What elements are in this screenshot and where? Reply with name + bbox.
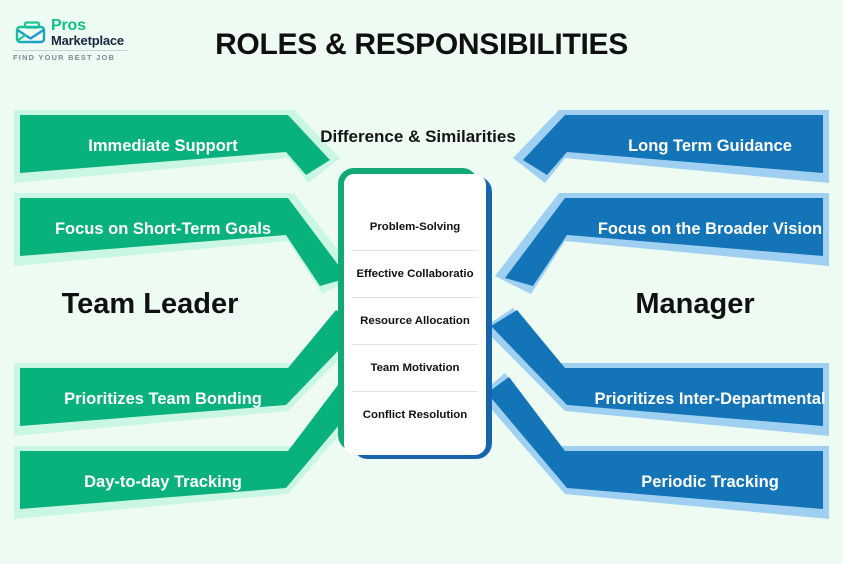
banner-left-4[interactable]: Day-to-day Tracking [18,451,318,514]
role-label-team-leader: Team Leader [0,288,300,321]
banner-left-4-label: Day-to-day Tracking [18,451,308,514]
banner-right-3-label: Prioritizes Inter-Departmental [565,368,843,431]
banner-left-2[interactable]: Focus on Short-Term Goals [18,198,318,261]
banner-left-2-label: Focus on Short-Term Goals [18,198,308,261]
list-item: Resource Allocation [352,297,478,344]
banner-right-1-label: Long Term Guidance [565,115,843,178]
list-item: Problem-Solving [352,204,478,250]
infographic-canvas: Pros Marketplace FIND YOUR BEST JOB ROLE… [0,0,843,564]
banner-right-3[interactable]: Prioritizes Inter-Departmental [505,368,825,431]
banner-right-2-label: Focus on the Broader Vision [565,198,843,261]
banner-left-3[interactable]: Prioritizes Team Bonding [18,368,318,431]
banner-right-4-label: Periodic Tracking [565,451,843,514]
page-title: ROLES & RESPONSIBILITIES [0,28,843,62]
shared-skills-card: Problem-Solving Effective Collaboratio R… [338,168,498,471]
list-item: Conflict Resolution [352,391,478,438]
role-label-manager: Manager [545,288,843,321]
shared-skills-list: Problem-Solving Effective Collaboratio R… [344,174,486,455]
banner-right-2[interactable]: Focus on the Broader Vision [505,198,825,261]
list-item: Team Motivation [352,344,478,391]
banner-right-4[interactable]: Periodic Tracking [505,451,825,514]
list-item: Effective Collaboratio [352,250,478,297]
banner-left-3-label: Prioritizes Team Bonding [18,368,308,431]
page-subtitle: Difference & Similarities [243,127,593,147]
